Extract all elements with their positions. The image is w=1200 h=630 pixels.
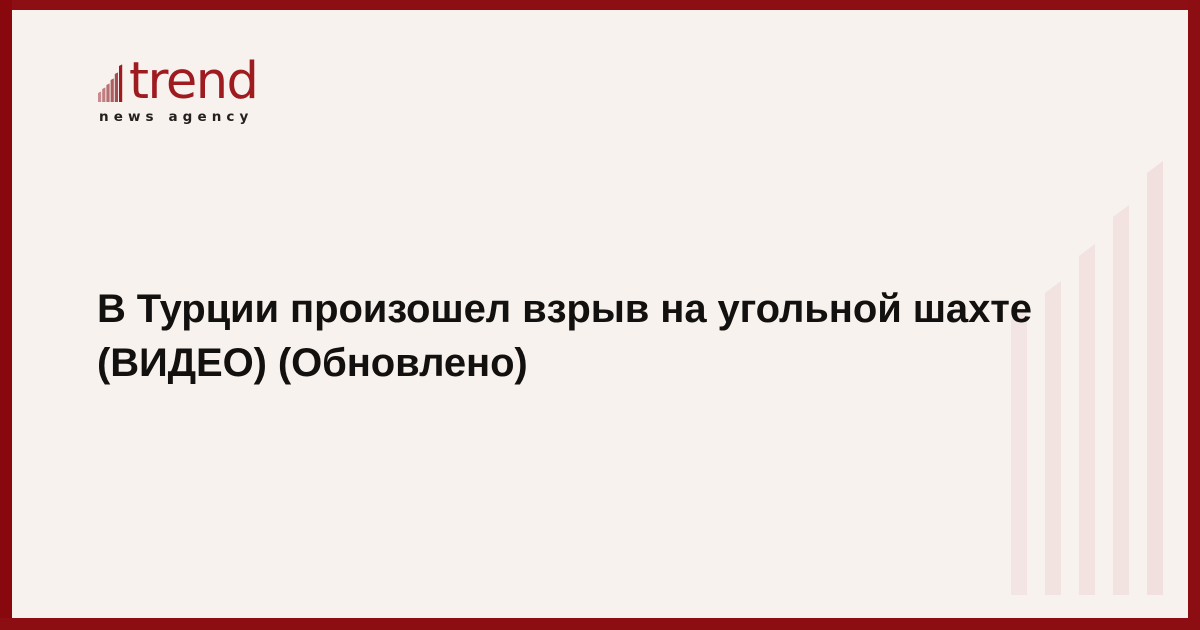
headline-line-2: (ВИДЕО) (Обновлено) <box>97 336 1002 390</box>
deco-bar-4 <box>1113 205 1129 595</box>
deco-bar-3 <box>1079 244 1095 595</box>
logo-wordmark: trend <box>129 59 257 105</box>
border-bottom <box>0 618 1200 630</box>
card-canvas: trend news agency В Турции произошел взр… <box>12 10 1188 618</box>
trend-logo[interactable]: trend news agency <box>97 48 327 125</box>
ascending-bars-icon <box>97 56 127 102</box>
headline-line-1: В Турции произошел взрыв на угольной шах… <box>97 282 1002 336</box>
border-right <box>1188 0 1200 630</box>
headline: В Турции произошел взрыв на угольной шах… <box>97 282 1002 390</box>
logo-tagline: news agency <box>99 109 327 125</box>
deco-bar-1 <box>1011 308 1027 595</box>
deco-bar-5 <box>1147 161 1163 595</box>
share-card: trend news agency В Турции произошел взр… <box>0 0 1200 630</box>
border-top <box>0 0 1200 10</box>
deco-bar-2 <box>1045 281 1061 595</box>
border-left <box>0 0 12 630</box>
